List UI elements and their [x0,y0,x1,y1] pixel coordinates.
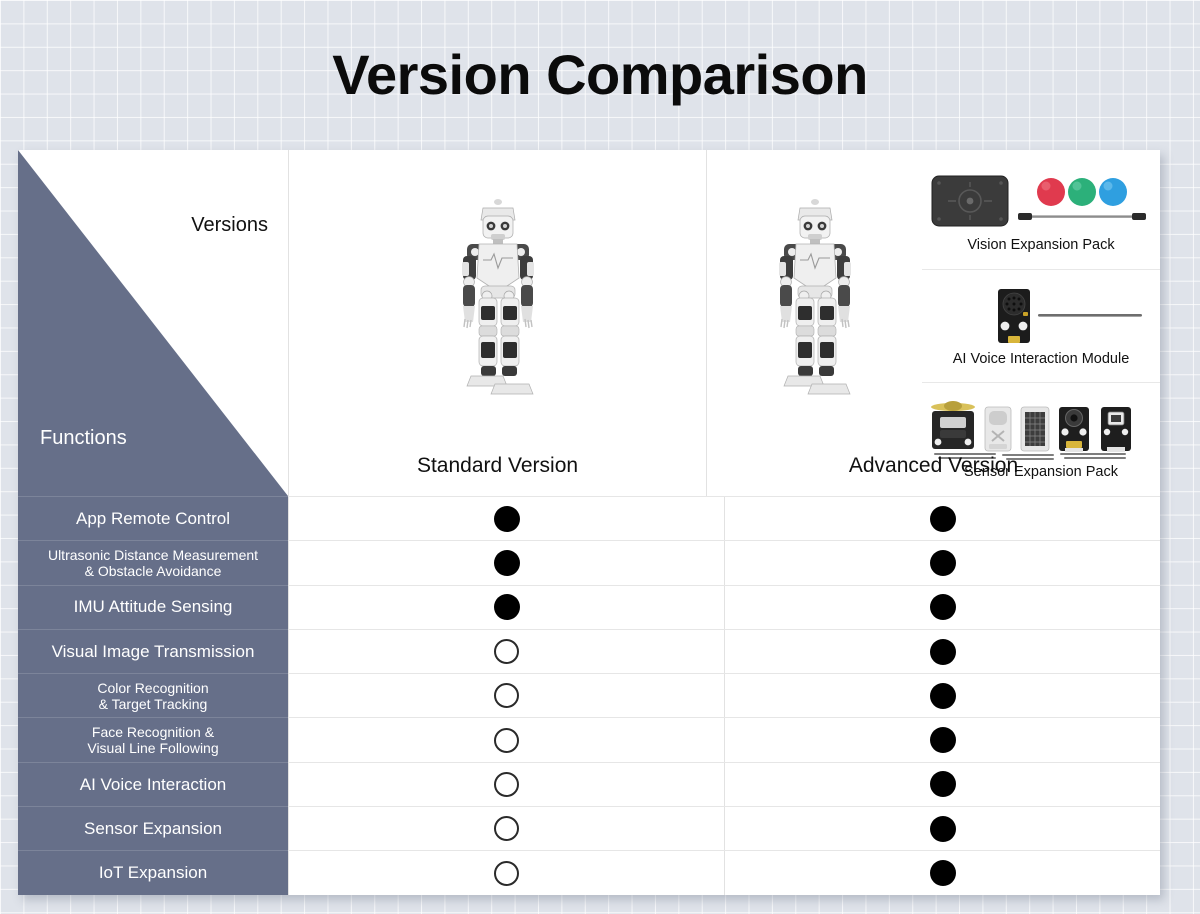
cell-standard [288,497,724,540]
table-body: App Remote ControlUltrasonic Distance Me… [18,496,1160,895]
dot-filled-icon [930,506,956,532]
expansion-packs-list: Vision Expansion Pack [922,150,1160,496]
cell-standard [288,763,724,806]
sensor-pack-icon [926,399,1156,461]
cell-advanced [724,497,1160,540]
voice-module-label: AI Voice Interaction Module [953,351,1130,367]
dot-empty-icon [494,816,519,841]
table-row: IMU Attitude Sensing [18,585,1160,629]
row-label: Face Recognition &Visual Line Following [18,717,288,761]
cell-advanced [724,851,1160,894]
dot-filled-icon [930,594,956,620]
cell-advanced [724,718,1160,761]
dot-filled-icon [930,639,956,665]
table-header: Versions Functions [18,150,1160,496]
table-row: Ultrasonic Distance Measurement& Obstacl… [18,540,1160,584]
dot-filled-icon [494,550,520,576]
column-label-standard: Standard Version [289,454,706,478]
table-row: AI Voice Interaction [18,762,1160,806]
corner-functions-label: Functions [40,427,127,450]
dot-empty-icon [494,772,519,797]
dot-filled-icon [930,771,956,797]
row-label: AI Voice Interaction [18,762,288,806]
robot-illustration-standard [423,186,573,416]
comparison-table: Versions Functions [18,150,1160,895]
table-row: Color Recognition& Target Tracking [18,673,1160,717]
vision-pack-icon [926,172,1156,234]
vision-pack-label: Vision Expansion Pack [967,237,1114,253]
row-label: IoT Expansion [18,850,288,894]
table-row: IoT Expansion [18,850,1160,894]
row-label: Ultrasonic Distance Measurement& Obstacl… [18,540,288,584]
cell-standard [288,541,724,584]
cell-standard [288,586,724,629]
corner-versions-label: Versions [191,214,268,237]
row-label: App Remote Control [18,496,288,540]
dot-filled-icon [930,727,956,753]
table-row: Visual Image Transmission [18,629,1160,673]
cell-standard [288,674,724,717]
dot-empty-icon [494,861,519,886]
cell-standard [288,630,724,673]
page-title: Version Comparison [0,44,1200,106]
dot-filled-icon [494,506,520,532]
cell-standard [288,807,724,850]
cell-advanced [724,586,1160,629]
column-label-advanced: Advanced Version [707,454,1160,478]
dot-filled-icon [930,860,956,886]
dot-empty-icon [494,683,519,708]
cell-advanced [724,630,1160,673]
table-row: App Remote Control [18,496,1160,540]
row-label: Sensor Expansion [18,806,288,850]
row-label: Color Recognition& Target Tracking [18,673,288,717]
voice-module-icon [926,286,1156,348]
table-row: Face Recognition &Visual Line Following [18,717,1160,761]
expansion-pack-voice: AI Voice Interaction Module [922,270,1160,384]
robot-illustration-advanced [740,186,890,416]
expansion-pack-sensor: Sensor Expansion Pack [922,383,1160,496]
expansion-pack-vision: Vision Expansion Pack [922,156,1160,270]
cell-standard [288,718,724,761]
table-row: Sensor Expansion [18,806,1160,850]
dot-empty-icon [494,728,519,753]
dot-filled-icon [930,816,956,842]
header-column-standard: Standard Version [288,150,706,496]
cell-advanced [724,807,1160,850]
dot-filled-icon [930,550,956,576]
cell-advanced [724,674,1160,717]
dot-empty-icon [494,639,519,664]
cell-advanced [724,763,1160,806]
row-label: IMU Attitude Sensing [18,585,288,629]
header-corner-cell: Versions Functions [18,150,288,496]
header-column-advanced: Vision Expansion Pack [706,150,1160,496]
cell-standard [288,851,724,894]
cell-advanced [724,541,1160,584]
dot-filled-icon [930,683,956,709]
dot-filled-icon [494,594,520,620]
row-label: Visual Image Transmission [18,629,288,673]
